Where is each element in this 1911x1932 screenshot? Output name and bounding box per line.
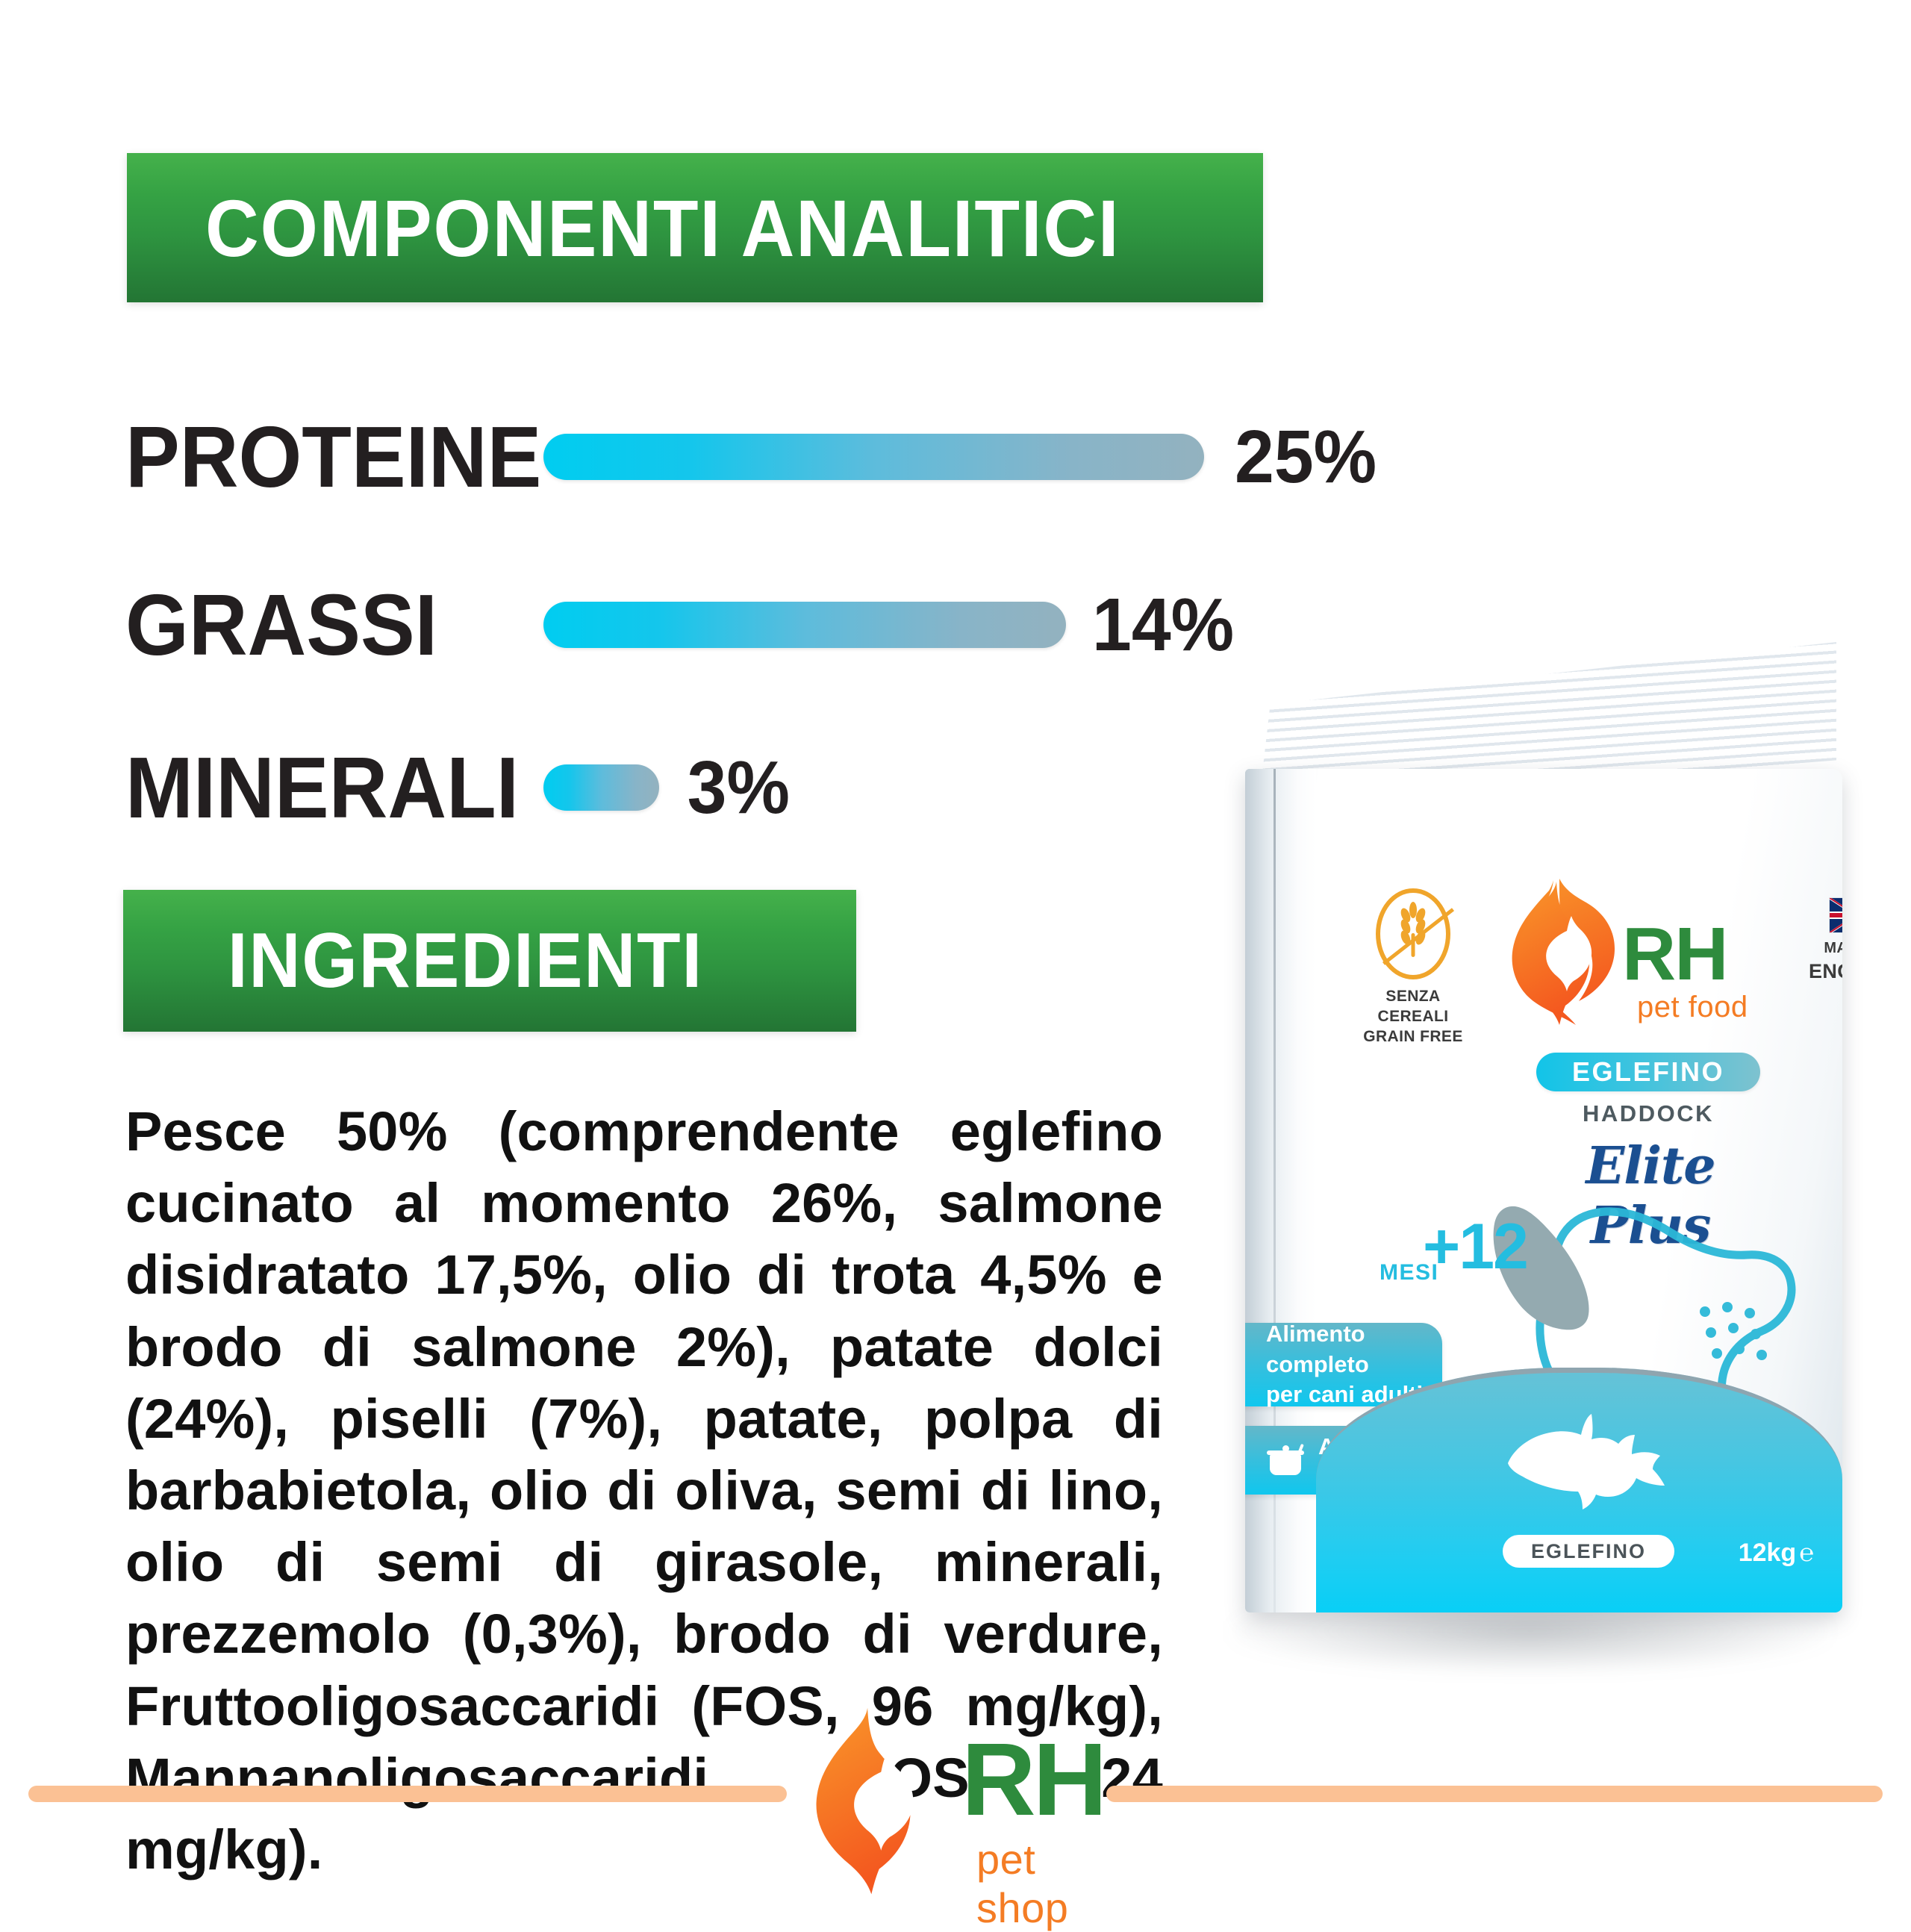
section-title-ingredients: INGREDIENTI: [228, 917, 703, 1006]
nutrient-bar-minerali: [543, 764, 659, 811]
footer-divider-left: [28, 1786, 787, 1802]
age-badge: +12 MESI: [1365, 1217, 1536, 1299]
flavour-english-label: HADDOCK: [1536, 1100, 1760, 1127]
nutrient-bar-proteine: [543, 434, 1204, 480]
product-bag-image: SENZA CEREALI GRAIN FREE RH pet food: [1187, 642, 1881, 1687]
nutrient-value-minerali: 3%: [688, 745, 790, 831]
estimated-sign: ℮: [1799, 1539, 1814, 1566]
made-in-england-badge: MADE IN ENGLAND: [1809, 897, 1842, 984]
nutrient-row-minerali: MINERALI 3%: [125, 738, 793, 838]
bottom-flavour-tag: EGLEFINO: [1503, 1535, 1674, 1568]
flavour-pill-label: EGLEFINO: [1572, 1056, 1724, 1088]
age-badge-unit: MESI: [1380, 1260, 1438, 1286]
nutrient-row-proteine: PROTEINE 25%: [125, 407, 1380, 507]
nutrient-label-proteine: PROTEINE: [125, 407, 518, 507]
nutrient-value-proteine: 25%: [1235, 414, 1377, 500]
union-jack-flag-icon: [1829, 897, 1842, 933]
nutrient-label-minerali: MINERALI: [125, 738, 518, 838]
nutrient-bar-grassi: [543, 602, 1066, 648]
section-banner-ingredients: INGREDIENTI: [123, 890, 856, 1032]
bag-bottom-panel: EGLEFINO 12kg℮: [1316, 1368, 1842, 1612]
nutrient-label-grassi: GRASSI: [125, 575, 518, 675]
brand-logo-letters: RH: [1622, 920, 1727, 988]
bottom-flavour-tag-label: EGLEFINO: [1531, 1540, 1646, 1563]
brand-logo-rh-pet-food: RH pet food: [1510, 877, 1756, 1026]
grain-free-label-en: GRAIN FREE: [1357, 1027, 1469, 1047]
flavour-pill-eglefino: EGLEFINO: [1536, 1053, 1760, 1091]
grain-free-label-it: SENZA CEREALI: [1357, 987, 1469, 1027]
footer-dog-and-cat-silhouette-icon: [805, 1702, 965, 1896]
footer-logo-rh-pet-shop: RH pet shop: [805, 1696, 1111, 1905]
nutrient-row-grassi: GRASSI 14%: [125, 575, 1238, 675]
grain-free-badge: SENZA CEREALI GRAIN FREE: [1357, 888, 1469, 1047]
section-banner-analytical-components: COMPONENTI ANALITICI: [127, 153, 1263, 302]
dog-and-cat-silhouette-icon: [1510, 877, 1630, 1026]
footer-divider-right: [1106, 1786, 1883, 1802]
footer-logo-letters: RH: [961, 1735, 1104, 1825]
cooking-pot-icon: [1266, 1444, 1309, 1477]
net-weight-label: 12kg℮: [1739, 1539, 1814, 1568]
footer-logo-tagline: pet shop: [976, 1835, 1111, 1932]
brand-logo-tagline: pet food: [1637, 991, 1748, 1024]
made-in-label: MADE IN: [1809, 939, 1842, 959]
section-title-analytical-components: COMPONENTI ANALITICI: [205, 181, 1120, 275]
wheat-crossed-icon: [1376, 888, 1450, 979]
fish-icon: [1491, 1414, 1678, 1511]
country-label: ENGLAND: [1809, 959, 1842, 985]
net-weight-value: 12kg: [1739, 1539, 1797, 1567]
bag-front-panel: SENZA CEREALI GRAIN FREE RH pet food: [1245, 769, 1842, 1612]
